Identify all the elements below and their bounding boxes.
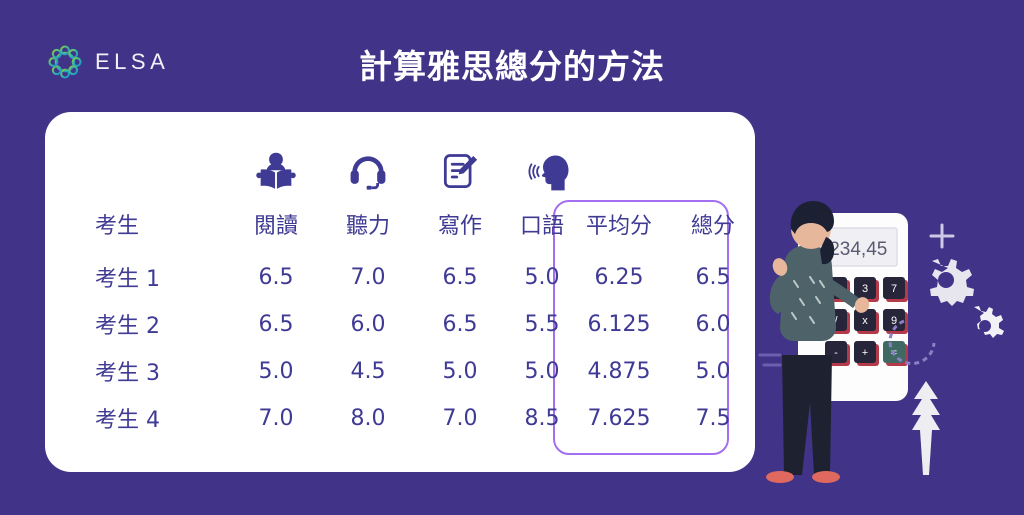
cell-writing: 6.5	[414, 254, 506, 300]
cell-listening: 8.0	[322, 395, 414, 441]
cell-average: 4.875	[569, 348, 669, 394]
cell-student: 考生 4	[95, 395, 225, 441]
score-card: 考生 閱讀 聽力 寫作 口語 平均分 總分 考生 1 6.5 7.0 6.5 5…	[45, 112, 755, 472]
cell-reading: 6.5	[230, 254, 322, 300]
plant-icon	[912, 381, 940, 475]
writing-document-pencil-icon	[414, 142, 506, 194]
cell-student: 考生 2	[95, 301, 225, 347]
cell-average: 6.25	[569, 254, 669, 300]
gear-large-icon	[930, 259, 974, 306]
cell-average: 6.125	[569, 301, 669, 347]
cell-listening: 6.0	[322, 301, 414, 347]
column-header-student: 考生	[95, 204, 225, 244]
plus-sparkle-icon	[931, 225, 953, 247]
page-header: ELSA 計算雅思總分的方法	[0, 0, 1024, 112]
page-title: 計算雅思總分的方法	[0, 40, 1024, 88]
table-row: 考生 3 5.0 4.5 5.0 5.0 4.875 5.0	[45, 348, 755, 394]
cell-reading: 5.0	[230, 348, 322, 394]
speed-lines-icon	[760, 355, 780, 365]
reading-icon	[230, 142, 322, 194]
cell-listening: 4.5	[322, 348, 414, 394]
table-row: 考生 1 6.5 7.0 6.5 5.0 6.25 6.5	[45, 254, 755, 300]
gear-small-icon	[974, 306, 1004, 338]
table-header-row: 考生 閱讀 聽力 寫作 口語 平均分 總分	[45, 204, 755, 244]
cell-reading: 7.0	[230, 395, 322, 441]
table-row: 考生 2 6.5 6.0 6.5 5.5 6.125 6.0	[45, 301, 755, 347]
column-header-overall: 總分	[667, 204, 759, 244]
headphones-listening-icon	[322, 142, 414, 194]
cell-student: 考生 3	[95, 348, 225, 394]
cell-overall: 5.0	[667, 348, 759, 394]
svg-text:+: +	[862, 347, 868, 359]
ielts-score-table: 考生 閱讀 聽力 寫作 口語 平均分 總分 考生 1 6.5 7.0 6.5 5…	[45, 112, 755, 472]
svg-text:x: x	[862, 315, 868, 327]
cell-writing: 6.5	[414, 301, 506, 347]
svg-text:-: -	[834, 347, 838, 359]
svg-text:7: 7	[891, 283, 897, 295]
cell-writing: 7.0	[414, 395, 506, 441]
cell-reading: 6.5	[230, 301, 322, 347]
cell-overall: 6.5	[667, 254, 759, 300]
cell-overall: 6.0	[667, 301, 759, 347]
cell-student: 考生 1	[95, 254, 225, 300]
skill-icon-row	[45, 142, 755, 194]
speaking-head-icon	[506, 142, 598, 194]
cell-average: 7.625	[569, 395, 669, 441]
column-header-listening: 聽力	[322, 204, 414, 244]
column-header-average: 平均分	[569, 204, 669, 244]
cell-writing: 5.0	[414, 348, 506, 394]
cell-overall: 7.5	[667, 395, 759, 441]
cell-listening: 7.0	[322, 254, 414, 300]
svg-text:3: 3	[862, 283, 868, 295]
column-header-writing: 寫作	[414, 204, 506, 244]
table-row: 考生 4 7.0 8.0 7.0 8.5 7.625 7.5	[45, 395, 755, 441]
svg-text:9: 9	[891, 315, 897, 327]
column-header-reading: 閱讀	[230, 204, 322, 244]
person-using-giant-calculator-illustration: 1234,45 237 /x9 -+=	[754, 185, 1024, 515]
